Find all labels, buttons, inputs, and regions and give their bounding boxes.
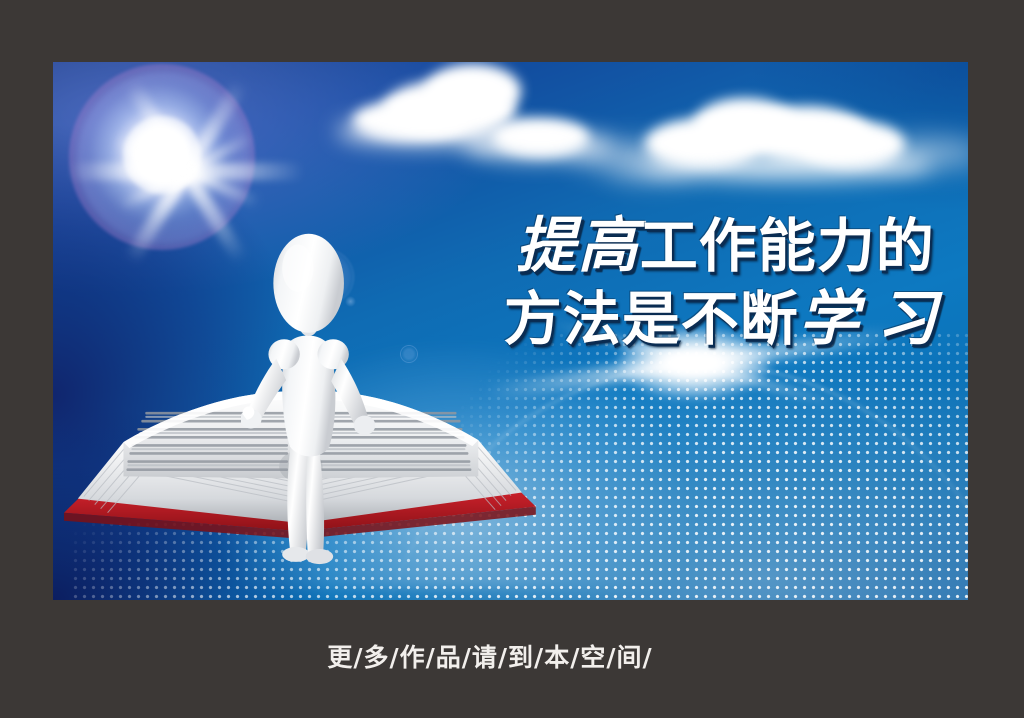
headline-bold-fangfa: 方法是不断 <box>504 285 799 353</box>
headline-brush-tigao: 提高 <box>516 211 640 281</box>
poster-frame: 提高工作能力的 方法是不断学习 更/多/作/品/请/到/本/空/间/ <box>0 0 1024 718</box>
bottom-caption: 更/多/作/品/请/到/本/空/间/ <box>0 633 1024 679</box>
headline: 提高工作能力的 方法是不断学习 <box>504 213 939 353</box>
headline-line-1: 提高工作能力的 <box>504 213 939 280</box>
headline-bold-gongzuo: 工作能力的 <box>640 212 935 280</box>
headline-brush-xue: 学 <box>799 284 861 354</box>
poster-artwork: 提高工作能力的 方法是不断学习 <box>53 62 968 600</box>
sun-core <box>123 116 201 194</box>
headline-line-2: 方法是不断学习 <box>504 286 939 353</box>
caption-text: 更/多/作/品/请/到/本/空/间/ <box>327 638 652 674</box>
headline-brush-xi: 习 <box>877 284 939 354</box>
white-3d-mannequin <box>241 223 378 589</box>
